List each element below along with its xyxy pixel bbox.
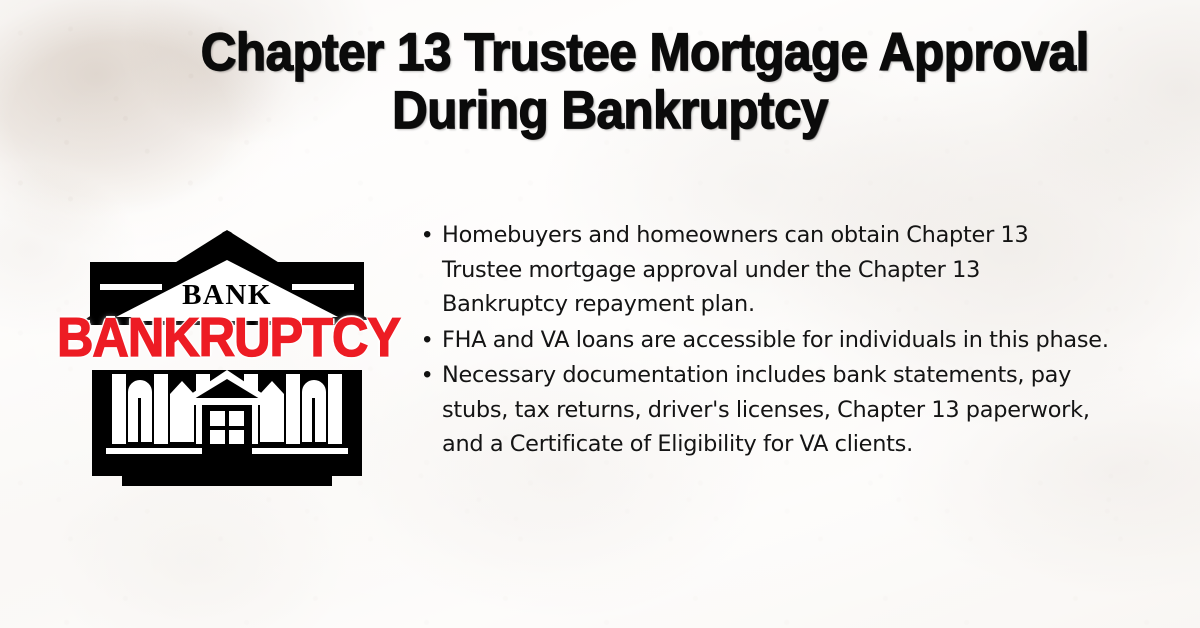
bullet-marker-icon: • (420, 358, 442, 392)
list-item: • FHA and VA loans are accessible for in… (420, 323, 1110, 358)
title-line-2: During Bankruptcy (201, 82, 1019, 140)
list-item-text: FHA and VA loans are accessible for indi… (442, 323, 1110, 358)
bullet-marker-icon: • (420, 218, 442, 252)
list-item: • Necessary documentation includes bank … (420, 358, 1110, 462)
bank-bankruptcy-illustration: BANK (62, 222, 392, 492)
list-item: • Homebuyers and homeowners can obtain C… (420, 218, 1110, 322)
list-item-text: Necessary documentation includes bank st… (442, 358, 1110, 462)
title-line-1: Chapter 13 Trustee Mortgage Approval (201, 24, 1019, 82)
bullet-marker-icon: • (420, 323, 442, 357)
bank-label-text: BANK (182, 279, 272, 311)
bullet-list: • Homebuyers and homeowners can obtain C… (420, 218, 1110, 463)
list-item-text: Homebuyers and homeowners can obtain Cha… (442, 218, 1110, 322)
page-title: Chapter 13 Trustee Mortgage Approval Dur… (170, 24, 1050, 140)
footer-bar: GUSTAN CHO ASSOCIATES Commercial & Resid… (0, 508, 1200, 628)
infographic-canvas: Chapter 13 Trustee Mortgage Approval Dur… (0, 0, 1200, 628)
